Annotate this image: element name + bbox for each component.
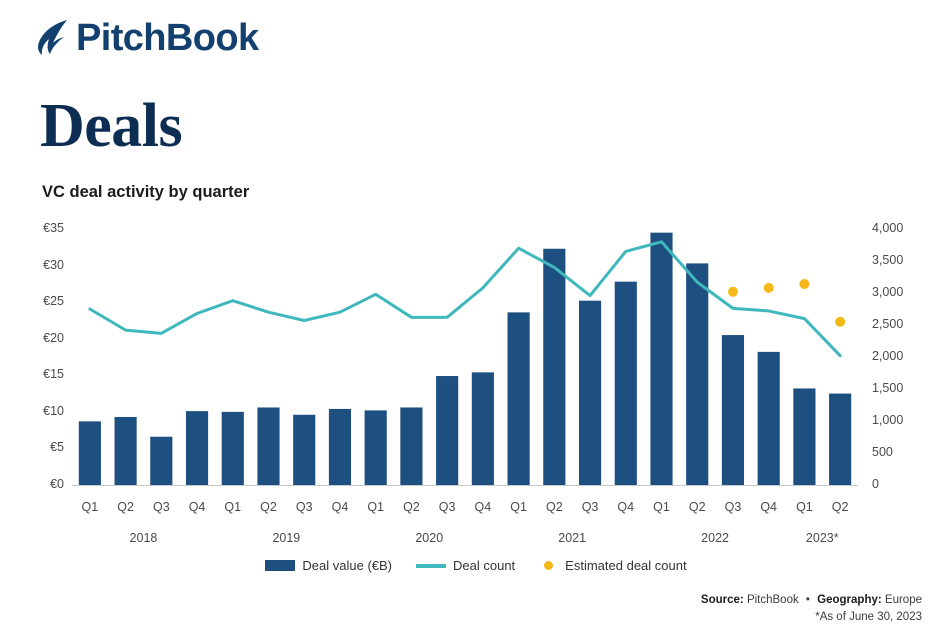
x-tick-label: Q1: [796, 500, 813, 514]
y-left-tick-label: €35: [16, 221, 64, 235]
chart-subtitle: VC deal activity by quarter: [42, 183, 249, 202]
y-right-tick-label: 3,000: [872, 285, 903, 299]
bar-2022-Q4: [758, 352, 780, 485]
x-year-label: 2019: [272, 531, 300, 545]
brand-header: PitchBook: [36, 18, 259, 58]
x-tick-label: Q2: [403, 500, 420, 514]
geography-value: Europe: [885, 594, 922, 606]
brand-name: PitchBook: [76, 19, 259, 57]
y-left-tick-label: €0: [16, 477, 64, 491]
estimated-deal-count-dot: [764, 283, 774, 293]
bar-2018-Q4: [186, 411, 208, 485]
chart-legend: Deal value (€B) Deal count Estimated dea…: [0, 558, 952, 573]
y-left-tick-label: €25: [16, 294, 64, 308]
dot-swatch-icon: [544, 561, 553, 570]
estimated-deal-count-dot: [835, 317, 845, 327]
x-tick-label: Q3: [582, 500, 599, 514]
y-right-tick-label: 3,500: [872, 253, 903, 267]
bar-2023-Q1: [793, 388, 815, 485]
legend-label-deal-count: Deal count: [453, 558, 515, 573]
bar-2023-Q2: [829, 394, 851, 485]
bar-2021-Q1: [508, 312, 530, 485]
chart-footnotes: Source: PitchBook • Geography: Europe *A…: [701, 592, 922, 627]
legend-item-estimated-deal-count[interactable]: Estimated deal count: [539, 558, 686, 573]
x-tick-label: Q3: [439, 500, 456, 514]
x-tick-label: Q4: [617, 500, 634, 514]
legend-item-deal-value[interactable]: Deal value (€B): [265, 558, 392, 573]
y-right-tick-label: 0: [872, 477, 879, 491]
line-swatch-icon: [416, 564, 446, 568]
x-tick-label: Q1: [653, 500, 670, 514]
x-year-label: 2021: [558, 531, 586, 545]
y-right-tick-label: 500: [872, 445, 893, 459]
page-title: Deals: [40, 95, 182, 157]
pitchbook-feather-logo-icon: [36, 18, 70, 58]
footnote-separator: •: [806, 594, 810, 606]
x-tick-label: Q4: [760, 500, 777, 514]
x-tick-label: Q4: [189, 500, 206, 514]
source-value: PitchBook: [747, 594, 799, 606]
bar-2019-Q1: [222, 412, 244, 485]
x-tick-label: Q3: [153, 500, 170, 514]
y-right-tick-label: 4,000: [872, 221, 903, 235]
bar-swatch-icon: [265, 560, 295, 571]
y-right-tick-label: 1,000: [872, 413, 903, 427]
x-tick-label: Q2: [117, 500, 134, 514]
bar-2020-Q1: [365, 410, 387, 485]
bar-2018-Q1: [79, 421, 101, 485]
x-tick-label: Q2: [832, 500, 849, 514]
legend-item-deal-count[interactable]: Deal count: [416, 558, 515, 573]
y-right-tick-label: 2,500: [872, 317, 903, 331]
bar-2021-Q3: [579, 301, 601, 485]
x-tick-label: Q1: [510, 500, 527, 514]
x-tick-label: Q1: [82, 500, 99, 514]
y-left-tick-label: €30: [16, 258, 64, 272]
y-left-tick-label: €10: [16, 404, 64, 418]
bar-2022-Q2: [686, 263, 708, 485]
bar-2020-Q4: [472, 372, 494, 485]
estimated-deal-count-dot: [728, 287, 738, 297]
bar-2022-Q1: [650, 233, 672, 485]
x-year-label: 2023*: [806, 531, 839, 545]
bar-2019-Q4: [329, 409, 351, 485]
x-tick-label: Q2: [689, 500, 706, 514]
y-right-tick-label: 1,500: [872, 381, 903, 395]
geography-label: Geography:: [817, 594, 882, 606]
bar-2022-Q3: [722, 335, 744, 485]
bar-2021-Q2: [543, 249, 565, 485]
bar-2020-Q3: [436, 376, 458, 485]
legend-label-deal-value: Deal value (€B): [302, 558, 392, 573]
x-tick-label: Q1: [367, 500, 384, 514]
bar-2019-Q2: [257, 407, 279, 485]
x-tick-label: Q3: [725, 500, 742, 514]
bar-2020-Q2: [400, 407, 422, 485]
x-year-label: 2018: [130, 531, 158, 545]
as-of-line: *As of June 30, 2023: [701, 609, 922, 626]
deal-count-line: [90, 242, 840, 356]
source-label: Source:: [701, 594, 744, 606]
x-tick-label: Q4: [475, 500, 492, 514]
y-left-tick-label: €20: [16, 331, 64, 345]
source-line: Source: PitchBook • Geography: Europe: [701, 592, 922, 609]
x-tick-label: Q2: [260, 500, 277, 514]
bar-2018-Q3: [150, 437, 172, 485]
x-tick-label: Q3: [296, 500, 313, 514]
x-year-label: 2022: [701, 531, 729, 545]
bar-2019-Q3: [293, 415, 315, 485]
x-tick-label: Q2: [546, 500, 563, 514]
x-year-label: 2020: [415, 531, 443, 545]
y-right-tick-label: 2,000: [872, 349, 903, 363]
bar-2018-Q2: [115, 417, 137, 485]
legend-label-estimated-deal-count: Estimated deal count: [565, 558, 686, 573]
estimated-deal-count-dot: [799, 279, 809, 289]
bar-2021-Q4: [615, 282, 637, 485]
y-left-tick-label: €15: [16, 367, 64, 381]
y-left-tick-label: €5: [16, 440, 64, 454]
x-tick-label: Q4: [332, 500, 349, 514]
x-tick-label: Q1: [224, 500, 241, 514]
